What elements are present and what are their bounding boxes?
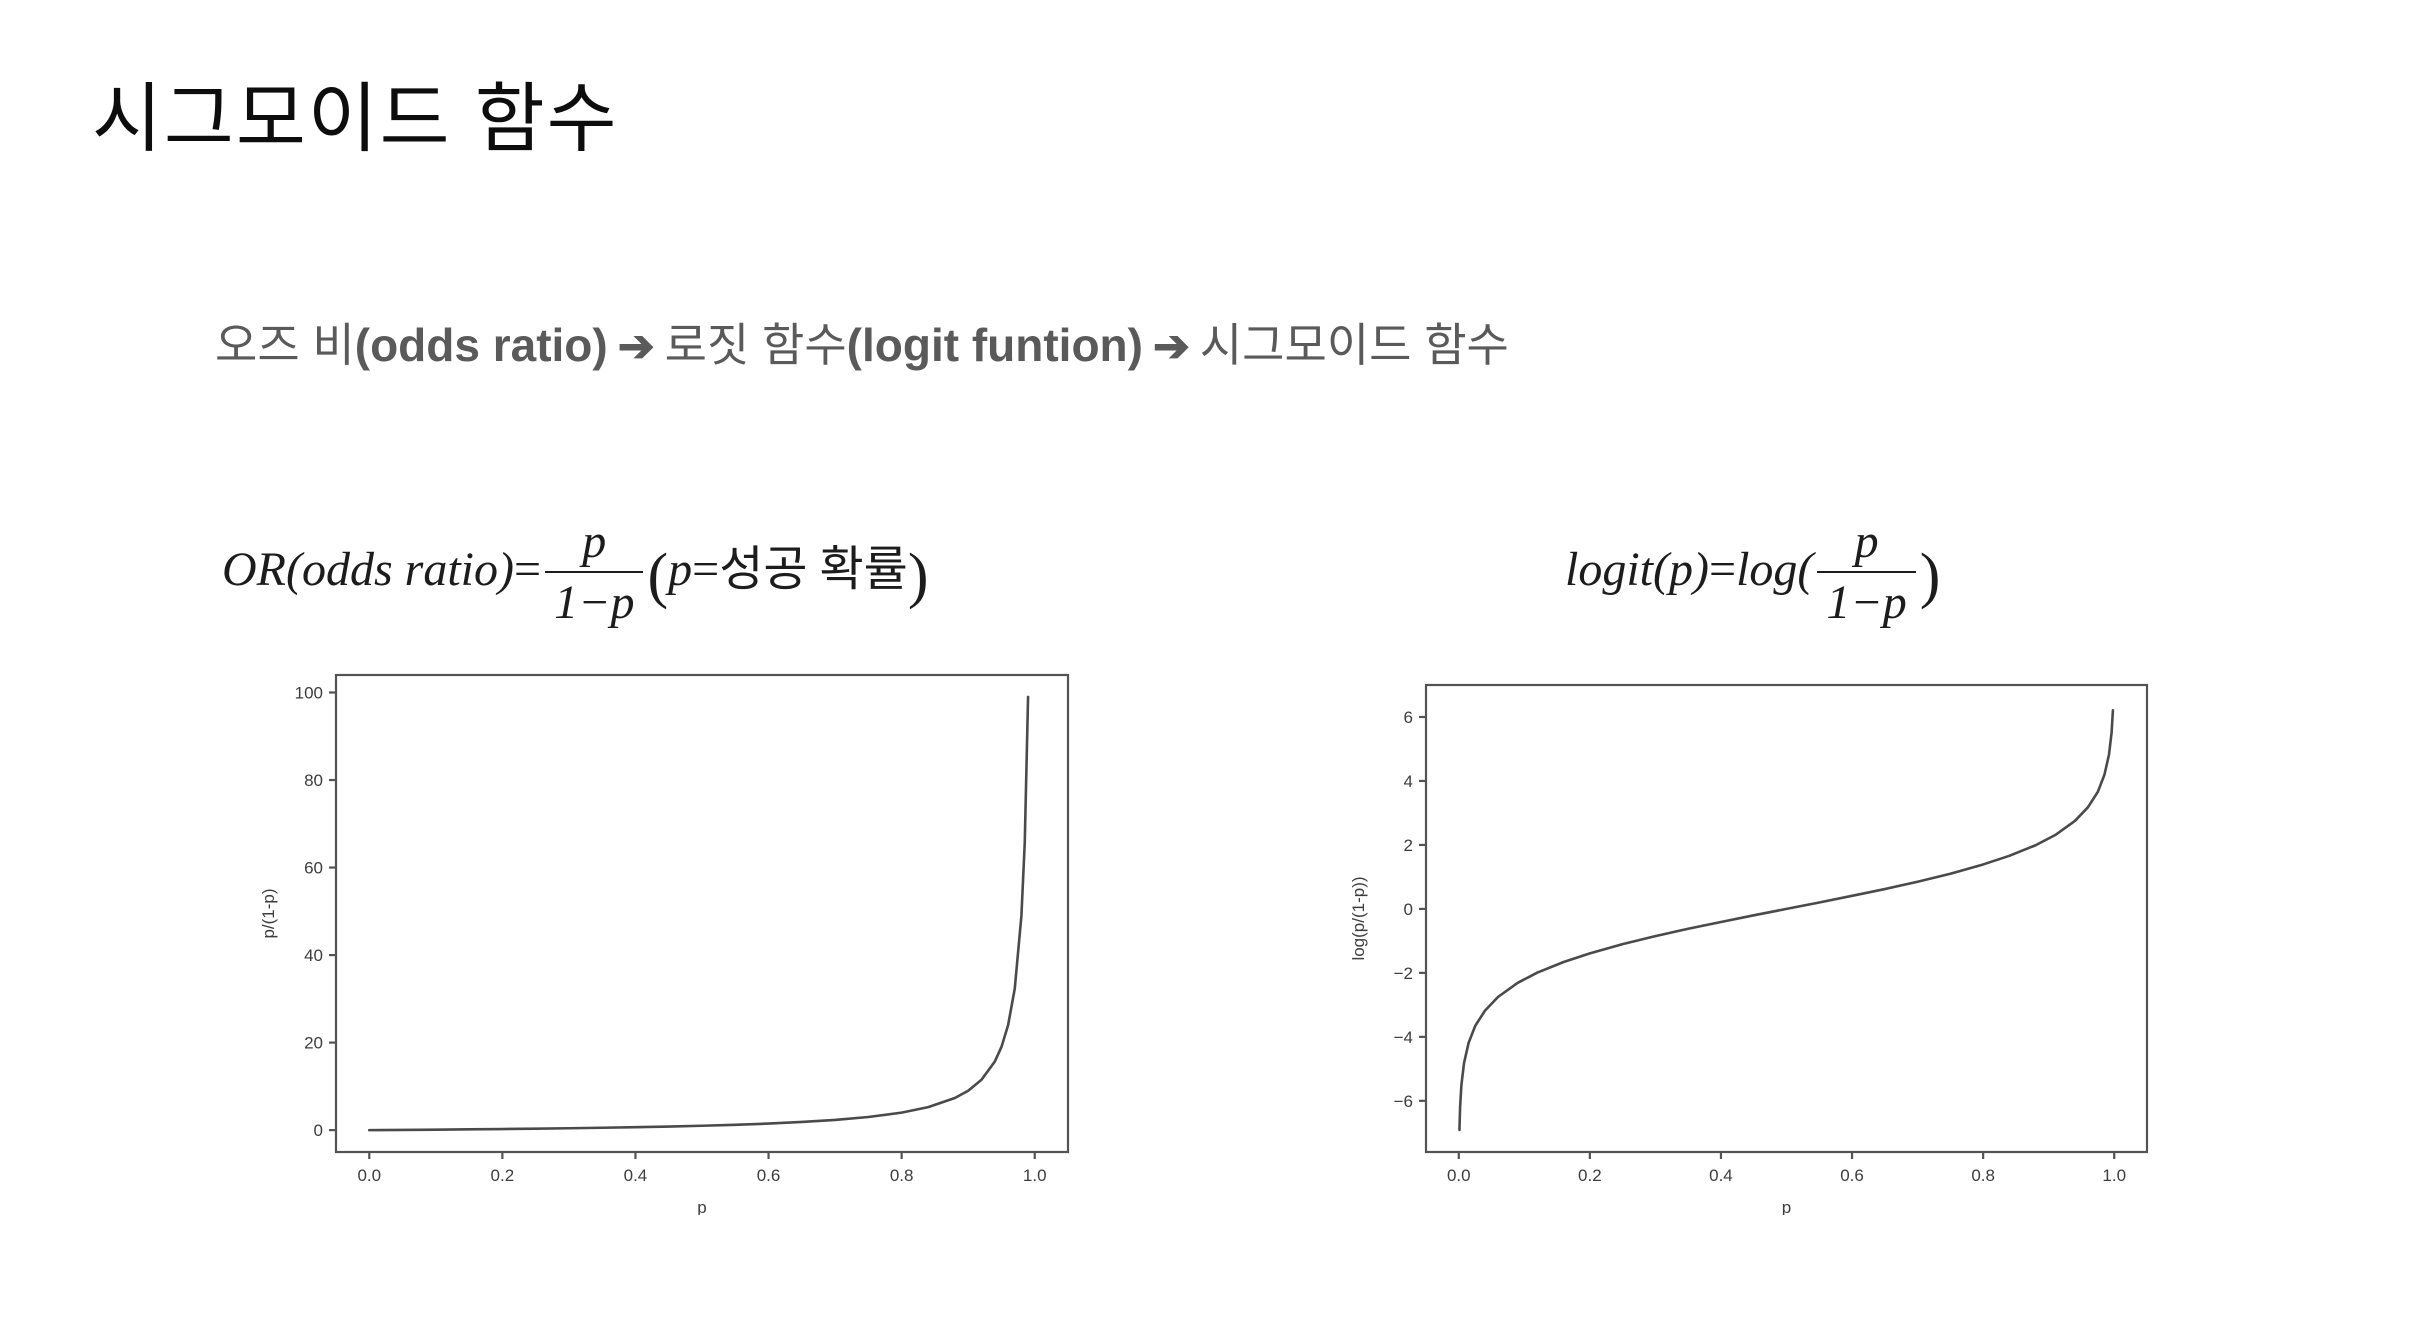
- x-tick-label: 1.0: [1023, 1166, 1047, 1185]
- x-tick-label: 0.8: [1971, 1166, 1995, 1185]
- formula-right-denominator: 1−p: [1817, 573, 1915, 630]
- slide-canvas: 시그모이드 함수 오즈 비(odds ratio)➔로짓 함수(logit fu…: [0, 0, 2428, 1322]
- x-tick-label: 0.6: [757, 1166, 781, 1185]
- y-tick-label: 100: [295, 684, 323, 703]
- y-axis-ticks-odds: 020406080100: [295, 684, 336, 1141]
- y-axis-label-odds: p/(1-p): [259, 888, 278, 938]
- x-tick-label: 1.0: [2102, 1166, 2126, 1185]
- x-axis-label-odds: p: [697, 1198, 706, 1215]
- subtitle-line: 오즈 비(odds ratio)➔로짓 함수(logit funtion)➔시그…: [215, 318, 1509, 374]
- y-tick-label: 40: [304, 946, 323, 965]
- y-tick-label: 6: [1404, 708, 1413, 727]
- subtitle-part2-kr: 로짓 함수: [665, 319, 847, 371]
- y-tick-label: −2: [1394, 964, 1413, 983]
- arrow-right-icon-2: ➔: [1143, 322, 1200, 371]
- chart-logit: −6−4−20246 0.00.20.40.60.81.0 p log(p/(1…: [1300, 655, 2200, 1215]
- arrow-right-icon-1: ➔: [608, 322, 665, 371]
- formula-right-numerator: p: [1817, 514, 1915, 573]
- formula-right-close: ): [1920, 542, 1941, 610]
- x-tick-label: 0.2: [1578, 1166, 1602, 1185]
- subtitle-part3-kr: 시그모이드 함수: [1200, 319, 1509, 371]
- x-axis-ticks-odds: 0.00.20.40.60.81.0: [357, 1152, 1046, 1185]
- y-tick-label: 60: [304, 859, 323, 878]
- y-tick-label: 4: [1404, 772, 1413, 791]
- y-tick-label: 0: [1404, 900, 1413, 919]
- subtitle-part1-kr: 오즈 비: [215, 319, 355, 371]
- y-tick-label: −6: [1394, 1092, 1413, 1111]
- plot-frame-logit: [1426, 685, 2147, 1152]
- subtitle-part2-en: (logit funtion): [847, 319, 1143, 371]
- x-tick-label: 0.8: [890, 1166, 914, 1185]
- x-tick-label: 0.4: [624, 1166, 648, 1185]
- formula-left-note-open: (: [647, 542, 668, 610]
- y-tick-label: −4: [1394, 1028, 1413, 1047]
- subtitle-part1-en: (odds ratio): [355, 319, 608, 371]
- formula-left-note-text: 성공 확률: [719, 543, 908, 596]
- formula-left-equals: =: [514, 543, 541, 596]
- y-axis-label-logit: log(p/(1-p)): [1349, 876, 1368, 960]
- y-tick-label: 20: [304, 1034, 323, 1053]
- formula-left-numerator: p: [545, 514, 643, 573]
- x-tick-label: 0.6: [1840, 1166, 1864, 1185]
- chart-logit-svg: −6−4−20246 0.00.20.40.60.81.0 p log(p/(1…: [1300, 655, 2200, 1215]
- x-tick-label: 0.4: [1709, 1166, 1733, 1185]
- formula-left-note-var: p: [668, 543, 692, 596]
- formula-left-fraction: p1−p: [545, 514, 643, 630]
- plot-frame-odds: [336, 675, 1068, 1152]
- data-line-logit: [1459, 710, 2112, 1130]
- x-axis-label-logit: p: [1782, 1198, 1791, 1215]
- formula-left-denominator: 1−p: [545, 573, 643, 630]
- formula-left-lhs: OR(odds ratio): [222, 543, 514, 596]
- x-tick-label: 0.0: [1447, 1166, 1471, 1185]
- chart-odds-ratio: 020406080100 0.00.20.40.60.81.0 p p/(1-p…: [200, 655, 1100, 1215]
- x-tick-label: 0.2: [491, 1166, 515, 1185]
- data-line-odds: [369, 697, 1028, 1130]
- x-tick-label: 0.0: [357, 1166, 381, 1185]
- formula-logit: logit(p)=log(p1−p): [1565, 516, 1940, 632]
- formula-left-note-close: ): [908, 542, 929, 610]
- formula-odds-ratio: OR(odds ratio)=p1−p(p=성공 확률): [222, 516, 928, 632]
- y-tick-label: 2: [1404, 836, 1413, 855]
- formula-left-note-equals: =: [692, 543, 719, 596]
- x-axis-ticks-logit: 0.00.20.40.60.81.0: [1447, 1152, 2126, 1185]
- y-tick-label: 0: [314, 1121, 323, 1140]
- formula-right-fraction: p1−p: [1817, 514, 1915, 630]
- y-axis-ticks-logit: −6−4−20246: [1394, 708, 1426, 1111]
- formula-right-equals: =: [1709, 543, 1736, 596]
- chart-odds-ratio-svg: 020406080100 0.00.20.40.60.81.0 p p/(1-p…: [200, 655, 1100, 1215]
- formula-right-func: log(: [1736, 543, 1813, 596]
- y-tick-label: 80: [304, 771, 323, 790]
- page-title: 시그모이드 함수: [92, 78, 619, 162]
- formula-right-lhs: logit(p): [1565, 543, 1709, 596]
